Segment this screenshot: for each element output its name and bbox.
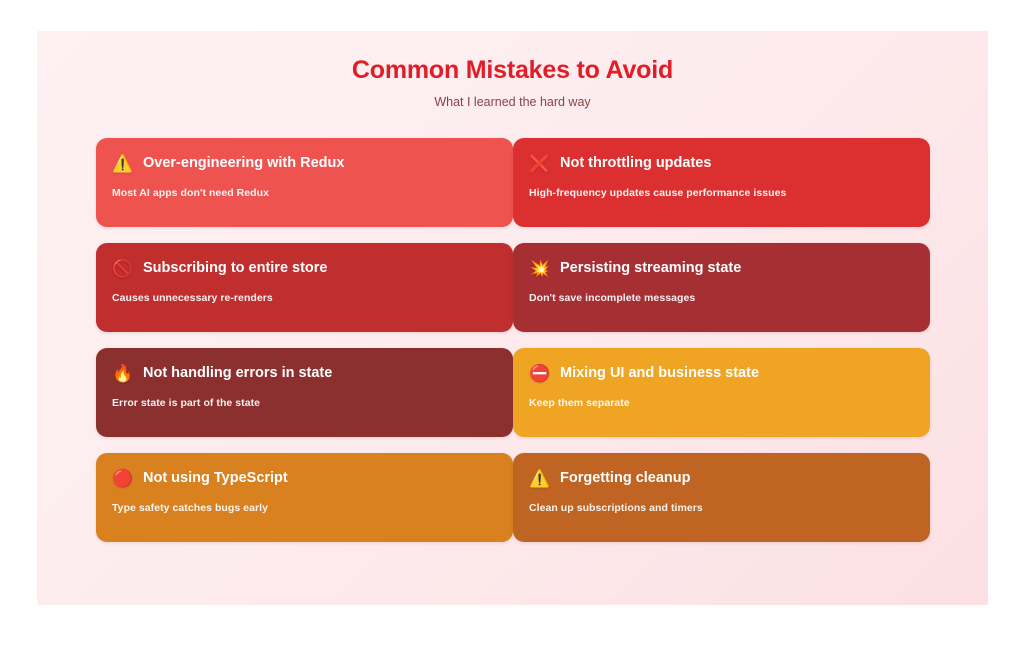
card-title: Forgetting cleanup	[560, 470, 691, 487]
card-title: Not throttling updates	[560, 155, 711, 172]
page-subtitle: What I learned the hard way	[37, 85, 988, 110]
card-description: Clean up subscriptions and timers	[529, 502, 914, 515]
slide-panel: Common Mistakes to Avoid What I learned …	[37, 31, 988, 605]
card-header: 🔥 Not handling errors in state	[112, 362, 497, 384]
mistake-card[interactable]: 🚫 Subscribing to entire store Causes unn…	[96, 243, 513, 332]
card-title: Over-engineering with Redux	[143, 155, 344, 172]
cross-mark-icon: ❌	[529, 155, 551, 172]
card-description: Don't save incomplete messages	[529, 292, 914, 305]
card-description: Causes unnecessary re-renders	[112, 292, 497, 305]
card-description: Keep them separate	[529, 397, 914, 410]
mistake-card-grid: ⚠️ Over-engineering with Redux Most AI a…	[96, 138, 929, 542]
card-header: ⚠️ Forgetting cleanup	[529, 467, 914, 489]
slide-header: Common Mistakes to Avoid What I learned …	[37, 31, 988, 110]
card-description: High-frequency updates cause performance…	[529, 187, 914, 200]
fire-icon: 🔥	[112, 365, 134, 382]
no-entry-icon: ⛔	[529, 365, 551, 382]
card-title: Persisting streaming state	[560, 260, 741, 277]
card-description: Type safety catches bugs early	[112, 502, 497, 515]
mistake-card[interactable]: 🔴 Not using TypeScript Type safety catch…	[96, 453, 513, 542]
card-title: Mixing UI and business state	[560, 365, 759, 382]
page-title: Common Mistakes to Avoid	[37, 55, 988, 85]
card-header: 🔴 Not using TypeScript	[112, 467, 497, 489]
card-description: Error state is part of the state	[112, 397, 497, 410]
card-title: Subscribing to entire store	[143, 260, 328, 277]
card-header: 💥 Persisting streaming state	[529, 257, 914, 279]
card-header: ⚠️ Over-engineering with Redux	[112, 152, 497, 174]
prohibited-icon: 🚫	[112, 260, 134, 277]
warning-triangle-icon: ⚠️	[112, 155, 134, 172]
card-header: 🚫 Subscribing to entire store	[112, 257, 497, 279]
mistake-card[interactable]: 🔥 Not handling errors in state Error sta…	[96, 348, 513, 437]
mistake-card[interactable]: ❌ Not throttling updates High-frequency …	[513, 138, 930, 227]
mistake-card[interactable]: 💥 Persisting streaming state Don't save …	[513, 243, 930, 332]
card-header: ⛔ Mixing UI and business state	[529, 362, 914, 384]
mistake-card[interactable]: ⛔ Mixing UI and business state Keep them…	[513, 348, 930, 437]
card-title: Not handling errors in state	[143, 365, 332, 382]
card-header: ❌ Not throttling updates	[529, 152, 914, 174]
mistake-card[interactable]: ⚠️ Forgetting cleanup Clean up subscript…	[513, 453, 930, 542]
warning-triangle-icon: ⚠️	[529, 470, 551, 487]
collision-icon: 💥	[529, 260, 551, 277]
card-title: Not using TypeScript	[143, 470, 288, 487]
mistake-card[interactable]: ⚠️ Over-engineering with Redux Most AI a…	[96, 138, 513, 227]
red-circle-icon: 🔴	[112, 470, 134, 487]
card-description: Most AI apps don't need Redux	[112, 187, 497, 200]
